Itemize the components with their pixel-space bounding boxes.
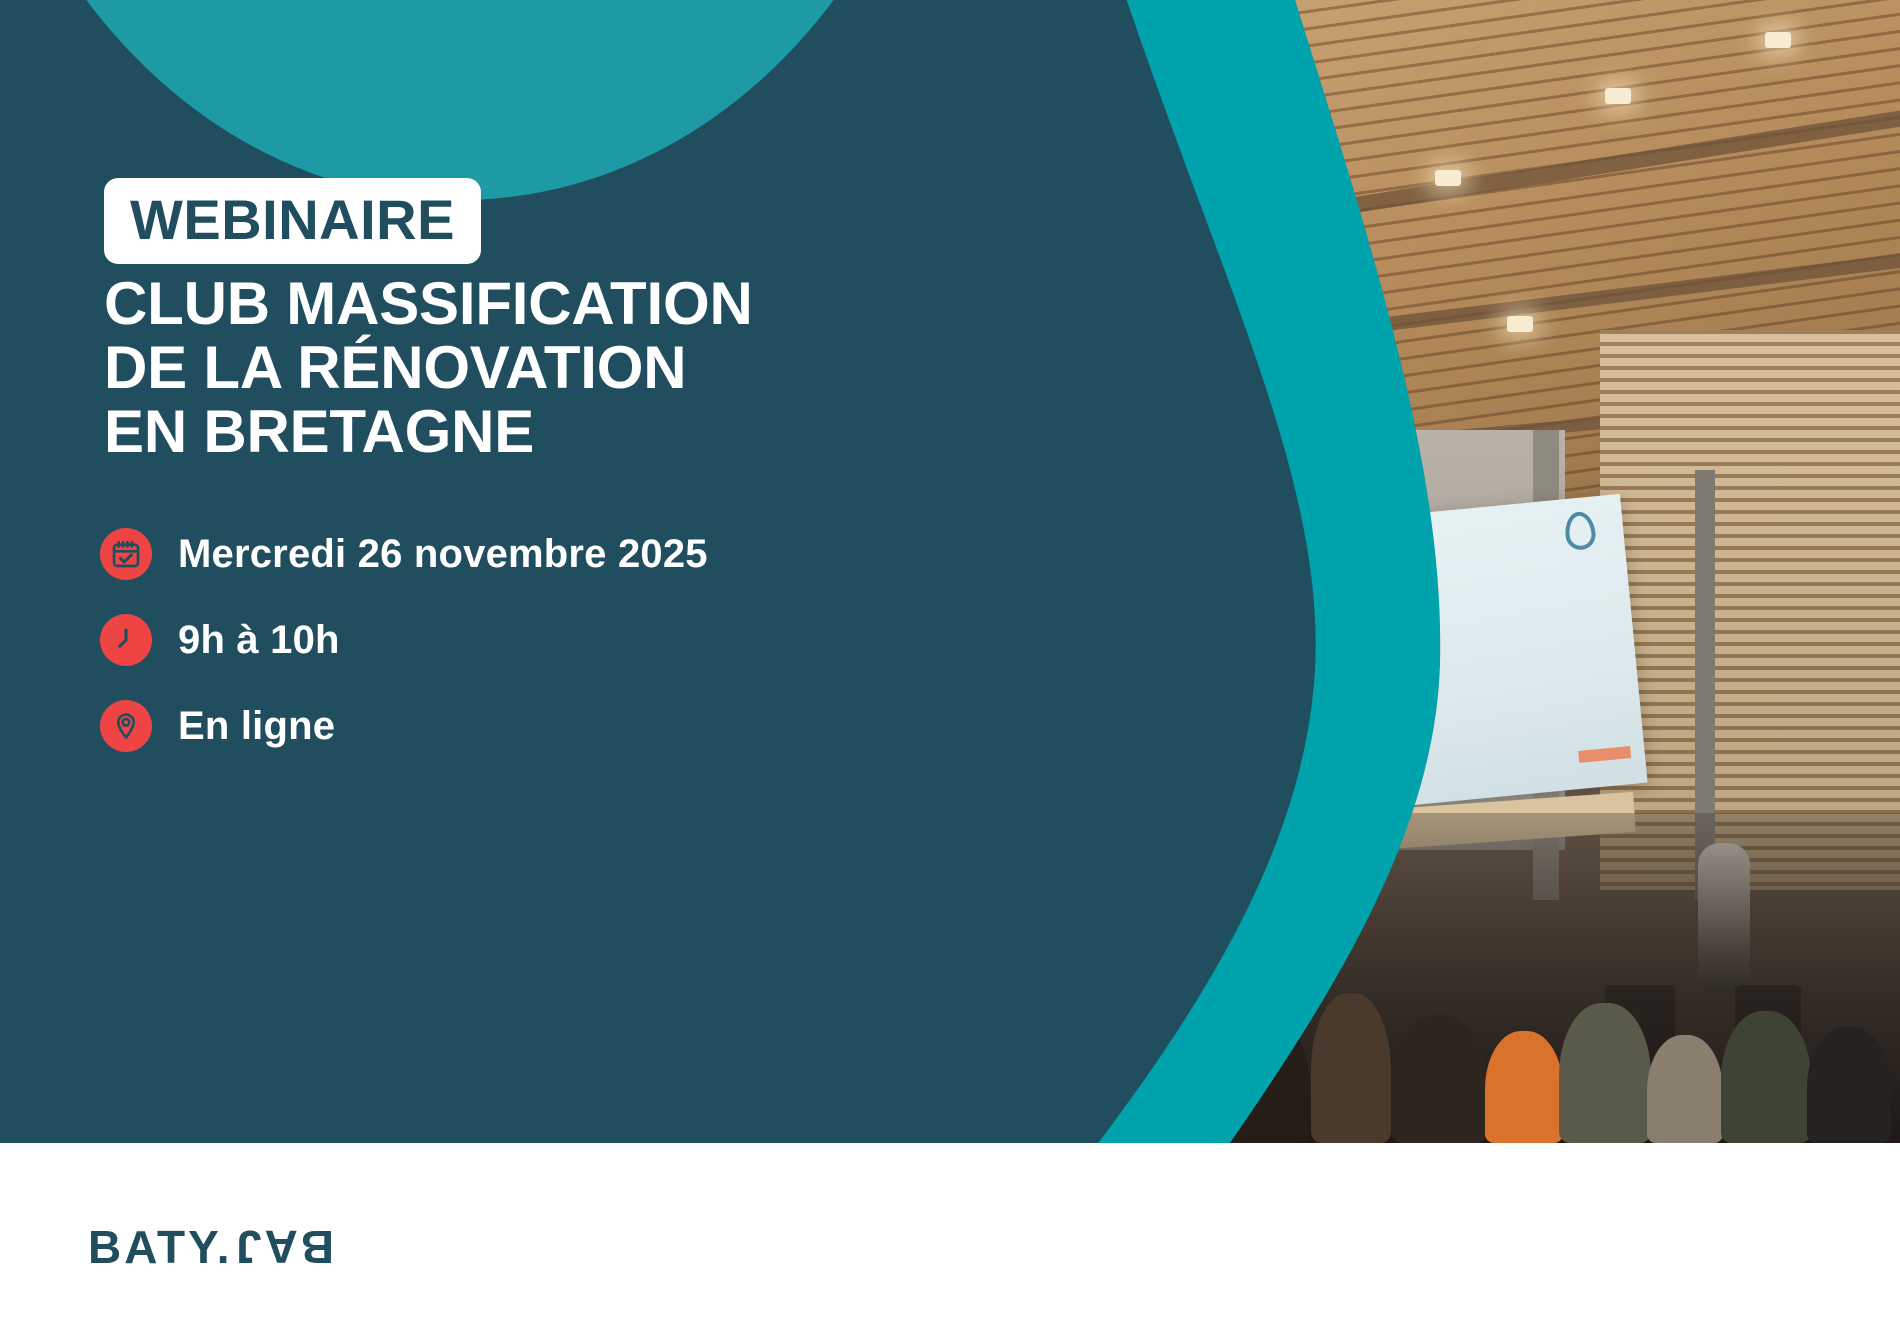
photo-ceiling-light <box>1605 88 1631 104</box>
page-title: CLUB MASSIFICATION DE LA RÉNOVATION EN B… <box>104 272 964 465</box>
photo-ceiling-light <box>1765 32 1791 48</box>
slide-accent-bar <box>1578 746 1631 763</box>
photo-audience-head <box>1391 1015 1487 1143</box>
webinar-badge: WEBINAIRE <box>104 178 481 264</box>
map-pin-icon <box>100 700 152 752</box>
photo-audience-head <box>1311 993 1391 1143</box>
batylab-logo-part1: BATY. <box>88 1220 233 1274</box>
page-title-line: EN BRETAGNE <box>104 400 964 464</box>
photo-ceiling-light <box>1435 170 1461 186</box>
photo-ceiling-light <box>1507 316 1533 332</box>
photo-audience-head <box>1559 1003 1651 1143</box>
webinar-poster: Introduction (RAPPEL) …hlm se mobilisent… <box>0 0 1900 1343</box>
photo-window-blinds <box>1600 330 1900 890</box>
photo-audience-head <box>1721 1011 1811 1143</box>
photo-audience-head <box>1807 1027 1891 1143</box>
detail-time: 9h à 10h <box>100 614 708 666</box>
clock-icon <box>100 614 152 666</box>
detail-location-label: En ligne <box>178 704 335 749</box>
page-title-line: DE LA RÉNOVATION <box>104 336 964 400</box>
photo-audience-head <box>1485 1031 1563 1143</box>
hero-section: Introduction (RAPPEL) …hlm se mobilisent… <box>0 0 1900 1143</box>
hero-content: WEBINAIRE CLUB MASSIFICATION DE LA RÉNOV… <box>0 0 1060 1143</box>
batylab-logo-part2: BAJ <box>233 1220 334 1274</box>
photo-audience-head <box>1647 1035 1723 1143</box>
detail-date-label: Mercredi 26 novembre 2025 <box>178 532 708 577</box>
detail-location: En ligne <box>100 700 708 752</box>
batylab-logo: BATY.BAJ <box>88 1220 334 1274</box>
detail-date: Mercredi 26 novembre 2025 <box>100 528 708 580</box>
calendar-check-icon <box>100 528 152 580</box>
footer-section: BATY.BAJ [FB]2 Fédération Bretonne des F… <box>0 1143 1900 1343</box>
event-details: Mercredi 26 novembre 2025 9h à 10h <box>100 528 708 786</box>
detail-time-label: 9h à 10h <box>178 618 340 663</box>
page-title-line: CLUB MASSIFICATION <box>104 272 964 336</box>
